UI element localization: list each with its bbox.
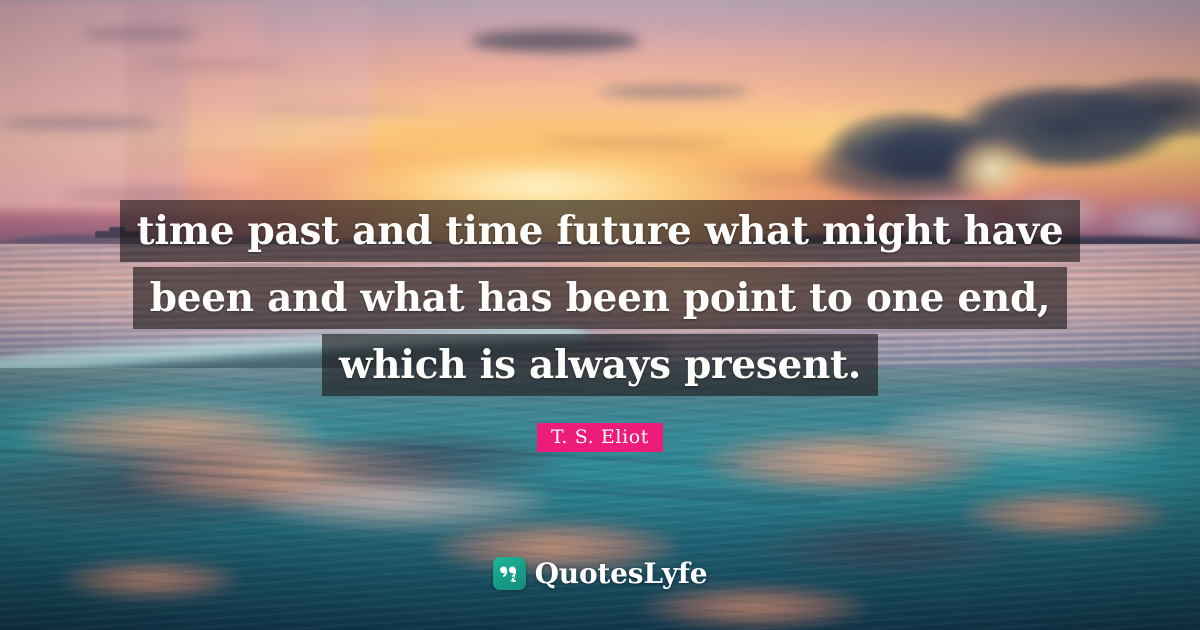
card-content: time past and time future what might hav… <box>0 0 1200 630</box>
quote-mark-icon <box>493 557 526 590</box>
quote-line-3: which is always present. <box>322 334 878 396</box>
brand-name: QuotesLyfe <box>535 557 708 590</box>
quote-card: time past and time future what might hav… <box>0 0 1200 630</box>
brand-logo: QuotesLyfe <box>0 557 1200 590</box>
quote-line-2: been and what has been point to one end, <box>133 267 1068 329</box>
author-badge-wrapper: T. S. Eliot <box>0 423 1200 452</box>
quote-text-block: time past and time future what might hav… <box>0 200 1200 396</box>
author-badge: T. S. Eliot <box>537 423 663 452</box>
quote-line-1: time past and time future what might hav… <box>120 200 1081 262</box>
